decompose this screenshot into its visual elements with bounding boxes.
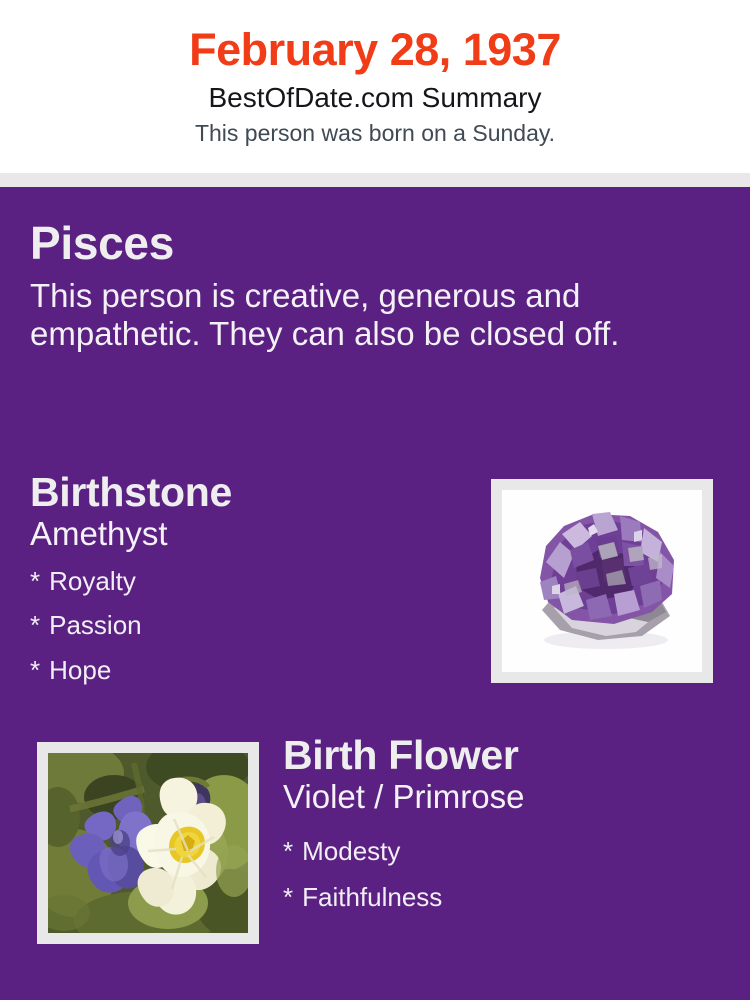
- bullet-marker-icon: *: [30, 566, 40, 596]
- birthflower-section: Birth Flower Violet / Primrose *Modesty …: [283, 735, 733, 920]
- header-divider: [0, 173, 750, 187]
- bullet-marker-icon: *: [283, 836, 293, 866]
- birthflower-photo: [48, 753, 248, 933]
- birthflower-title: Birth Flower: [283, 735, 733, 777]
- birth-day-note: This person was born on a Sunday.: [0, 114, 750, 146]
- list-item: *Passion: [30, 603, 470, 648]
- page-title: February 28, 1937: [0, 0, 750, 73]
- bullet-marker-icon: *: [30, 655, 40, 685]
- list-item: *Modesty: [283, 828, 733, 874]
- list-item: *Royalty: [30, 559, 470, 604]
- birthstone-section: Birthstone Amethyst *Royalty *Passion *H…: [30, 472, 470, 693]
- site-subtitle: BestOfDate.com Summary: [0, 73, 750, 114]
- zodiac-section: Pisces This person is creative, generous…: [30, 220, 720, 354]
- header: February 28, 1937 BestOfDate.com Summary…: [0, 0, 750, 173]
- birthflower-image-frame: [37, 742, 259, 944]
- birthstone-trait-list: *Royalty *Passion *Hope: [30, 553, 470, 693]
- bullet-marker-icon: *: [30, 610, 40, 640]
- amethyst-crystal-icon: [502, 490, 702, 672]
- summary-card: February 28, 1937 BestOfDate.com Summary…: [0, 0, 750, 1000]
- birthstone-title: Birthstone: [30, 472, 470, 514]
- birthstone-image-frame: [491, 479, 713, 683]
- birthstone-photo: [502, 490, 702, 672]
- birthflower-trait-list: *Modesty *Faithfulness: [283, 816, 733, 921]
- birthflower-trait-label: Modesty: [302, 836, 400, 866]
- birthflower-trait-label: Faithfulness: [302, 882, 442, 912]
- list-item: *Faithfulness: [283, 874, 733, 920]
- birthflower-name: Violet / Primrose: [283, 777, 733, 816]
- list-item: *Hope: [30, 648, 470, 693]
- zodiac-sign-name: Pisces: [30, 220, 720, 266]
- bullet-marker-icon: *: [283, 882, 293, 912]
- birthstone-name: Amethyst: [30, 514, 470, 553]
- birthstone-trait-label: Passion: [49, 610, 142, 640]
- zodiac-description: This person is creative, generous and em…: [30, 266, 702, 354]
- birthstone-trait-label: Royalty: [49, 566, 136, 596]
- violet-primrose-flower-icon: [48, 753, 248, 933]
- birthstone-trait-label: Hope: [49, 655, 111, 685]
